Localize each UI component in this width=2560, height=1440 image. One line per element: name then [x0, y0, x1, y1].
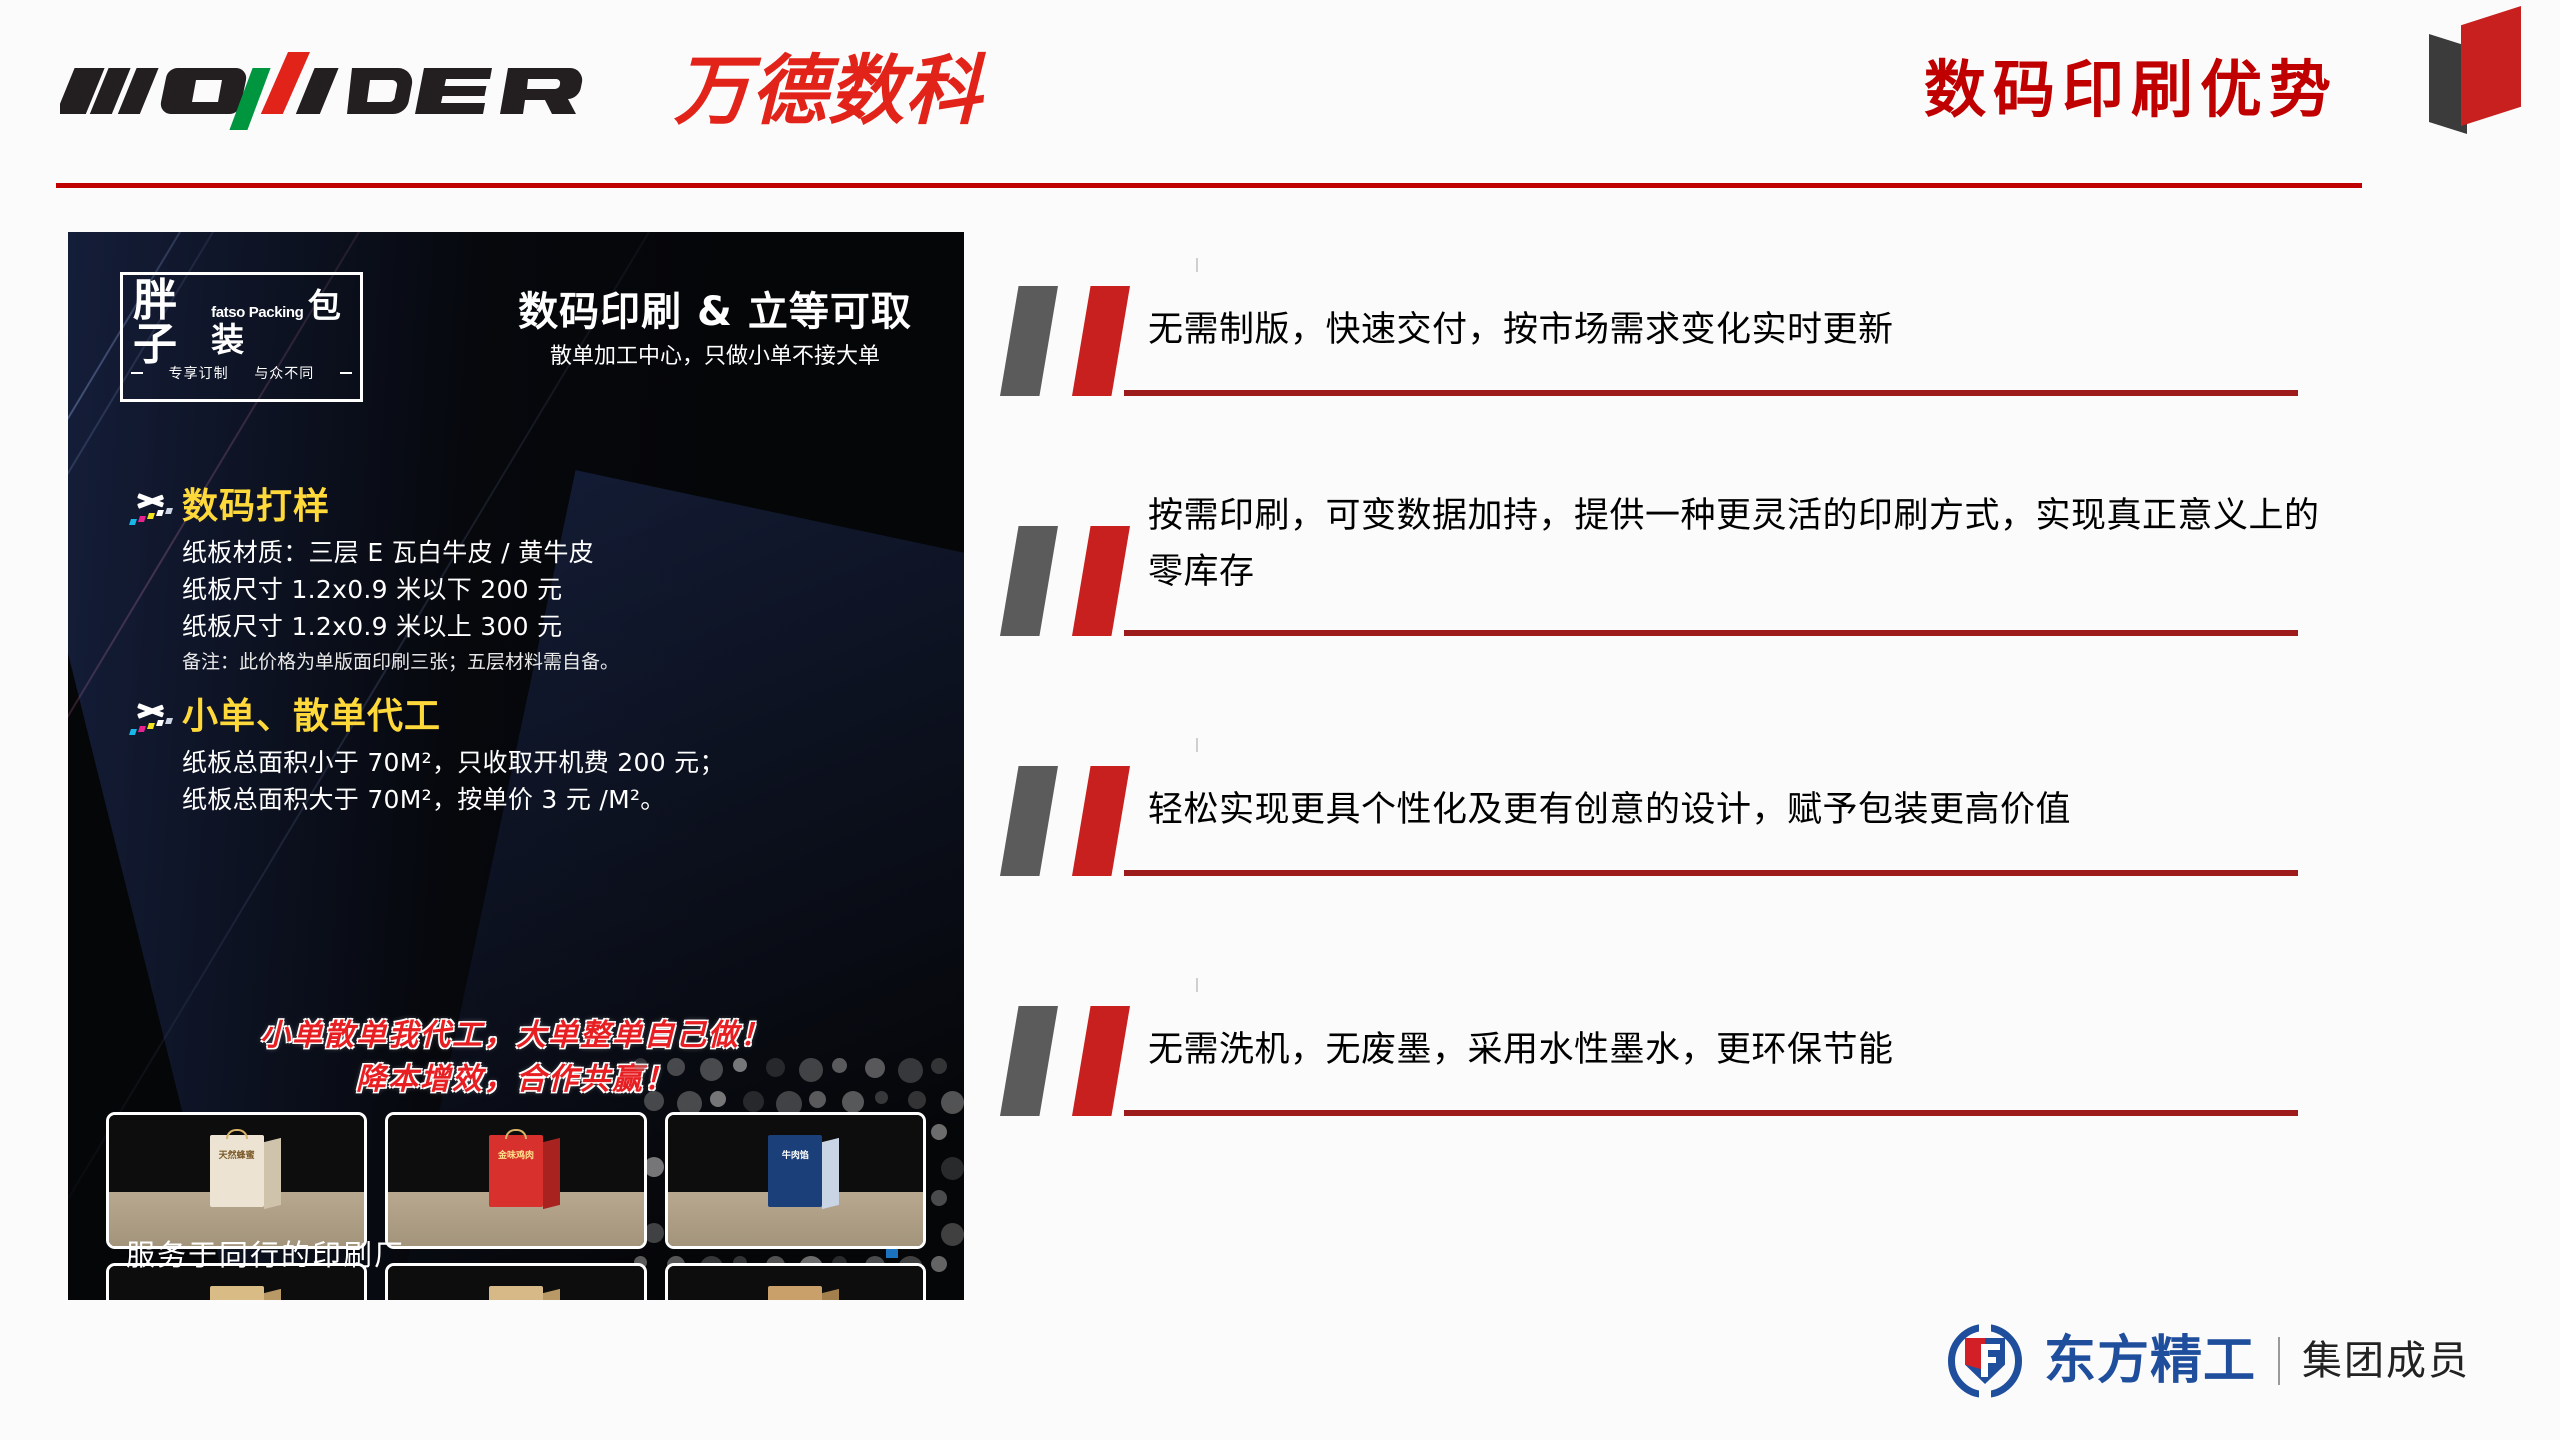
poster-section-title: 小单、散单代工: [182, 697, 441, 737]
fatso-tagline-right: 与众不同: [254, 363, 314, 383]
chevron-arrow-icon: [130, 696, 182, 738]
fatso-logo-right: fatso Packing 包装: [211, 289, 351, 357]
bullet-underline: [1124, 390, 2298, 396]
dongfang-jingong-logo-icon: [1948, 1324, 2022, 1398]
advantage-item: 无需洗机，无废墨，采用水性墨水，更环保节能: [1000, 982, 2360, 1222]
fatso-tagline-left: 专享订制: [169, 363, 229, 383]
corner-ribbon-red: [2461, 6, 2521, 126]
advantage-text: 轻松实现更具个性化及更有创意的设计，赋予包装更高价值: [1148, 782, 2338, 838]
bullet-underline: [1124, 870, 2298, 876]
footer-company-name: 东方精工: [2044, 1333, 2256, 1389]
bullet-chevron-icon: [1000, 1006, 1160, 1116]
bullet-chevron-icon: [1000, 286, 1160, 396]
poster-section-small-order-oem: 小单、散单代工 纸板总面积小于 70M²，只收取开机费 200 元； 纸板总面积…: [130, 694, 940, 818]
chevron-arrow-icon: [130, 486, 182, 528]
product-photo-classic-kraft-boxes: 经典: [385, 1263, 646, 1300]
advantage-item: 按需印刷，可变数据加持，提供一种更灵活的印刷方式，实现真正意义上的零库存: [1000, 502, 2360, 742]
slide-header: 万德数科 数码印刷优势: [0, 0, 2560, 200]
poster-section-lines: 纸板材质：三层 E 瓦白牛皮 / 黄牛皮 纸板尺寸 1.2x0.9 米以下 20…: [182, 534, 940, 677]
fatso-logo-en: fatso Packing: [211, 304, 303, 321]
promo-poster-image: 胖子 fatso Packing 包装 专享订制 与众不同 数码印刷 & 立等可…: [68, 232, 964, 1300]
poster-headline-block: 数码印刷 & 立等可取 散单加工中心，只做小单不接大单: [500, 289, 930, 370]
poster-note: 备注：此价格为单版面印刷三张；五层材料需自备。: [182, 647, 940, 677]
poster-section-header: 小单、散单代工: [130, 694, 940, 740]
wonder-wordmark-icon: [60, 52, 670, 130]
bullet-underline: [1124, 1110, 2298, 1116]
advantages-list: 无需制版，快速交付，按市场需求变化实时更新按需印刷，可变数据加持，提供一种更灵活…: [1000, 262, 2360, 1222]
group-member-footer: 东方精工 集团成员: [1948, 1324, 2470, 1398]
tagline-dash-left: [131, 372, 143, 374]
poster-subheadline: 散单加工中心，只做小单不接大单: [500, 344, 930, 370]
poster-line: 纸板材质：三层 E 瓦白牛皮 / 黄牛皮: [182, 534, 940, 571]
bullet-underline: [1124, 630, 2298, 636]
poster-headline: 数码印刷 & 立等可取: [500, 289, 930, 335]
fatso-logo-cn2: 包装: [211, 286, 340, 359]
product-photo-honey-gift-box: 天然蜂蜜: [106, 1112, 367, 1249]
poster-section-title: 数码打样: [182, 487, 330, 527]
poster-line: 纸板尺寸 1.2x0.9 米以上 300 元: [182, 608, 940, 645]
advantage-text: 按需印刷，可变数据加持，提供一种更灵活的印刷方式，实现真正意义上的零库存: [1148, 488, 2338, 600]
fatso-logo-cn: 胖子: [133, 279, 206, 367]
footer-member-label: 集团成员: [2302, 1338, 2470, 1384]
corner-ribbon-icon: [2429, 6, 2525, 136]
fatso-packing-logo: 胖子 fatso Packing 包装 专享订制 与众不同: [120, 272, 363, 402]
poster-footer-text: 服务于同行的印刷厂: [126, 1232, 405, 1274]
poster-line: 纸板总面积小于 70M²，只收取开机费 200 元；: [182, 744, 940, 781]
advantage-item: 轻松实现更具个性化及更有创意的设计，赋予包装更高价值: [1000, 742, 2360, 982]
bullet-tick: [1196, 738, 1198, 752]
advantage-item: 无需制版，快速交付，按市场需求变化实时更新: [1000, 262, 2360, 502]
poster-section-lines: 纸板总面积小于 70M²，只收取开机费 200 元； 纸板总面积大于 70M²，…: [182, 744, 940, 818]
product-photo-red-chicken-gift-box: 金味鸡肉: [385, 1112, 646, 1249]
wonder-brand-logo: 万德数科: [60, 48, 982, 130]
poster-section-digital-proofing: 数码打样 纸板材质：三层 E 瓦白牛皮 / 黄牛皮 纸板尺寸 1.2x0.9 米…: [130, 484, 940, 677]
wonder-brand-cn: 万德数科: [674, 52, 982, 130]
poster-line: 纸板尺寸 1.2x0.9 米以下 200 元: [182, 571, 940, 608]
fatso-logo-top: 胖子 fatso Packing 包装: [123, 275, 360, 361]
advantage-text: 无需制版，快速交付，按市场需求变化实时更新: [1148, 302, 2338, 358]
product-photo-beef-carton-box: 牛肉馅: [665, 1112, 926, 1249]
tagline-dash-right: [340, 372, 352, 374]
bullet-chevron-icon: [1000, 526, 1160, 636]
footer-divider: [2278, 1337, 2280, 1385]
page-title: 数码印刷优势: [1924, 48, 2338, 132]
poster-line: 纸板总面积大于 70M²，按单价 3 元 /M²。: [182, 781, 940, 818]
poster-section-header: 数码打样: [130, 484, 940, 530]
bullet-chevron-icon: [1000, 766, 1160, 876]
bullet-tick: [1196, 978, 1198, 992]
bullet-tick: [1196, 258, 1198, 272]
advantage-text: 无需洗机，无废墨，采用水性墨水，更环保节能: [1148, 1022, 2338, 1078]
header-divider: [56, 183, 2362, 188]
product-photo-large-printed-carton: 祖国美景: [665, 1263, 926, 1300]
